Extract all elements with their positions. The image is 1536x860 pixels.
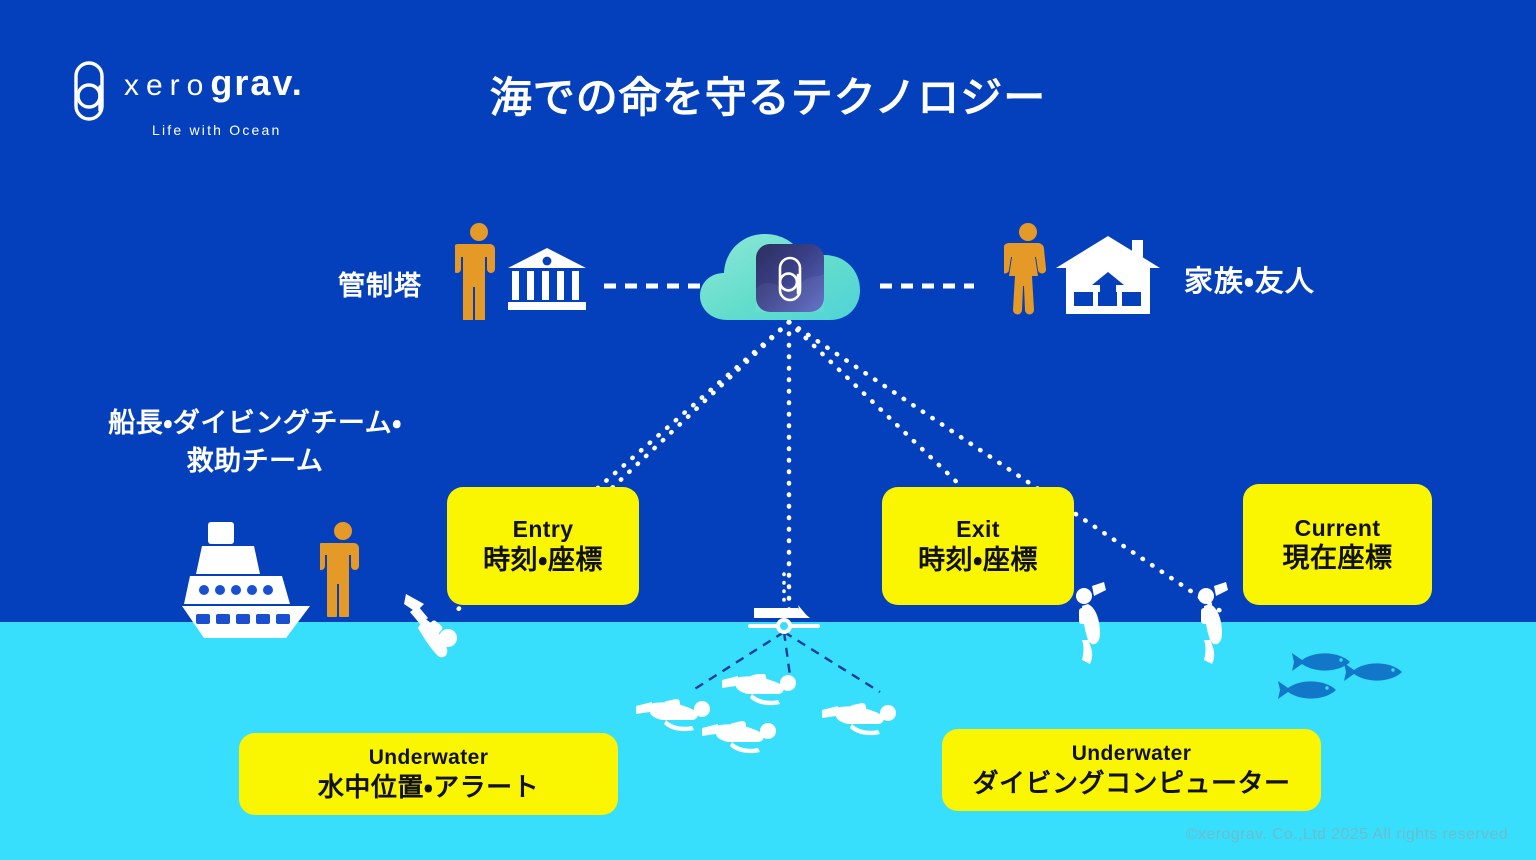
card-underwater-computer-jp: ダイビングコンピューター <box>972 767 1290 799</box>
card-entry[interactable]: Entry 時刻・座標 <box>447 487 639 605</box>
label-teams-line-1: 船長・ダイビングチーム・ <box>80 404 430 442</box>
card-exit-en: Exit <box>956 515 1000 544</box>
fish-school-icon <box>1278 648 1418 710</box>
diver-ascending-icon <box>1192 582 1238 666</box>
control-tower-building-icon <box>508 248 586 310</box>
person-standing-icon <box>455 222 503 320</box>
diver-ascending-icon <box>1070 582 1116 666</box>
card-underwater-position-en: Underwater <box>369 745 489 771</box>
card-exit-jp: 時刻・座標 <box>918 544 1038 577</box>
card-underwater-computer[interactable]: Underwater ダイビングコンピューター <box>942 729 1321 811</box>
small-boat-buoy-icon <box>748 604 820 634</box>
card-entry-jp: 時刻・座標 <box>483 544 603 577</box>
page-title: 海での命を守るテクノロジー <box>0 64 1536 125</box>
xerograv-app-icon[interactable] <box>756 244 824 312</box>
copyright-footer: ©xerograv. Co.,Ltd 2025 All rights reser… <box>1186 826 1508 844</box>
card-underwater-position-jp: 水中位置・アラート <box>318 771 539 803</box>
card-current-jp: 現在座標 <box>1283 542 1393 575</box>
card-underwater-computer-en: Underwater <box>1072 741 1192 767</box>
label-teams: 船長・ダイビングチーム・ 救助チーム <box>80 404 430 481</box>
divers-swimming-icon <box>636 674 932 760</box>
label-family-friends: 家族・友人 <box>1184 258 1315 300</box>
label-control-tower: 管制塔 <box>338 264 422 303</box>
label-teams-line-2: 救助チーム <box>80 442 430 480</box>
card-current-en: Current <box>1295 514 1381 543</box>
person-on-ship-icon <box>320 521 366 617</box>
house-icon <box>1056 236 1160 314</box>
card-exit[interactable]: Exit 時刻・座標 <box>882 487 1074 605</box>
card-entry-en: Entry <box>513 515 574 544</box>
person-standing-icon <box>1004 222 1052 320</box>
slide-canvas: xerograv. Life with Ocean 海での命を守るテクノロジー … <box>0 0 1536 860</box>
card-underwater-position[interactable]: Underwater 水中位置・アラート <box>239 733 618 815</box>
card-current[interactable]: Current 現在座標 <box>1243 484 1432 605</box>
cloud-icon[interactable] <box>700 228 880 320</box>
